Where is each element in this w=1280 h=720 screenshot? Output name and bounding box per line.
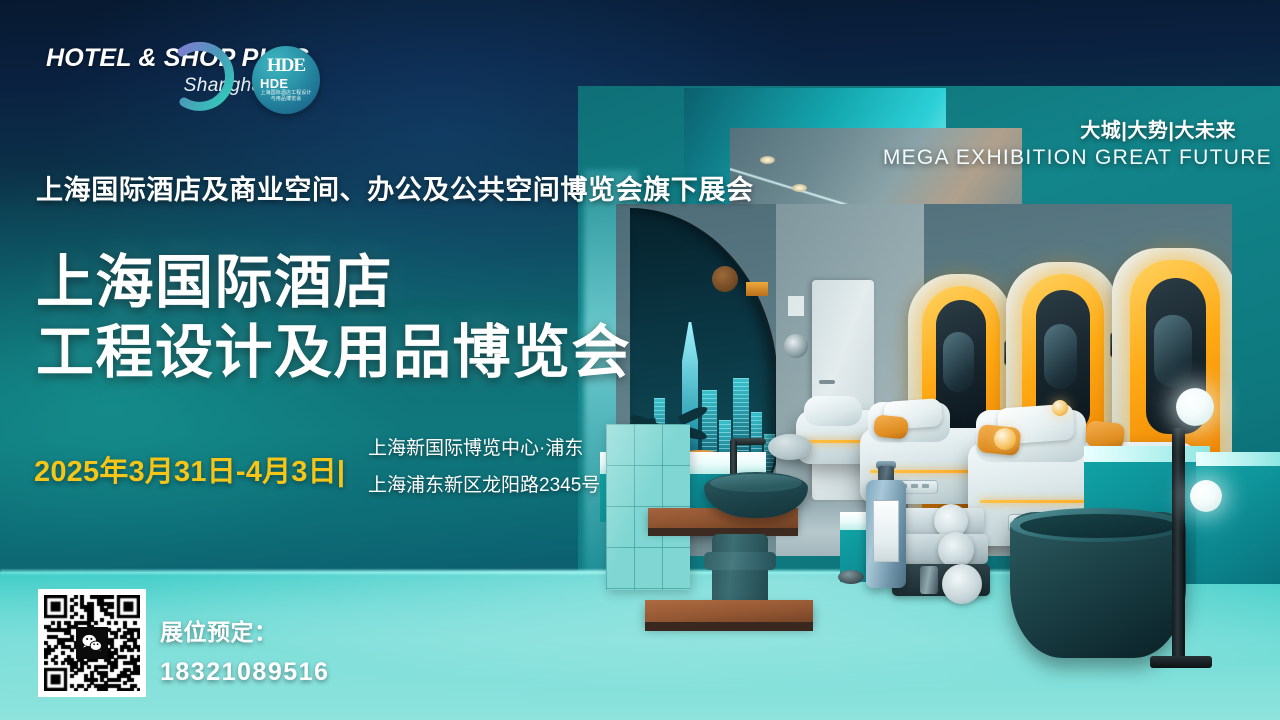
booking-label: 展位预定： [160,613,278,647]
sink-pedestal [712,534,768,608]
wall-mirror-icon [784,334,808,358]
sink-pedestal-collar [704,552,776,570]
wechat-icon [76,627,108,659]
page-title: 上海国际酒店 工程设计及用品博览会 [36,248,631,388]
swirl-ring-icon [162,36,246,120]
sink-basin-rim [710,474,802,492]
event-date: 2025年3月31日-4月3日| [34,448,345,490]
hde-sans-mark: HDE [260,76,288,91]
venue-line-2: 上海浦东新区龙阳路2345号 [368,467,600,504]
event-poster: HOTEL & SHOP PLUS Shanghai HDE HDE 上海国际酒… [0,0,1280,720]
title-line-1: 上海国际酒店 [36,248,631,318]
tagline-chinese: 大城|大势|大未来 [1080,114,1236,143]
wood-shelf-lower-edge [645,622,813,631]
sub-headline: 上海国际酒店及商业空间、办公及公共空间博览会旗下展会 [36,168,754,207]
display-block-top-d [1196,452,1280,466]
door-handle-icon [819,380,835,384]
bathtub-interior [1020,514,1176,538]
wood-shelf-lower [645,600,813,624]
tagline-english: MEGA EXHIBITION GREAT FUTURE [883,146,1272,170]
pouf-icon [768,434,812,460]
rolled-towel-icon [942,564,982,604]
hde-caption-line2: 与用品博览会 [252,96,320,102]
amenity-lid-icon [838,570,864,584]
booking-phone[interactable]: 18321089516 [160,658,329,687]
event-venue: 上海新国际博览中心·浦东 上海浦东新区龙阳路2345号 [368,430,600,504]
wall-sign-icon [746,282,768,296]
amenity-jar-icon [920,566,938,594]
floor-lamp-icon [1172,428,1185,662]
title-line-2: 工程设计及用品博览会 [36,318,631,388]
wall-clock-icon [712,266,738,292]
wall-plaque [788,296,804,316]
lamp-globe-icon [1176,388,1214,426]
rolled-towel-icon [938,532,974,568]
display-block-top-c [1084,446,1210,462]
venue-line-1: 上海新国际博览中心·浦东 [368,430,600,467]
tiled-wall-sheen [606,424,690,590]
hde-serif-mark: HDE [252,55,320,77]
hde-caption: 上海国际酒店工程设计 与用品博览会 [252,90,320,103]
bottle-label [873,500,899,562]
floor-lamp-base [1150,656,1212,668]
hde-badge[interactable]: HDE HDE 上海国际酒店工程设计 与用品博览会 [252,46,320,114]
decor-orb-icon [1052,400,1068,416]
decor-orb-icon [994,428,1016,450]
lamp-globe-icon [1190,480,1222,512]
